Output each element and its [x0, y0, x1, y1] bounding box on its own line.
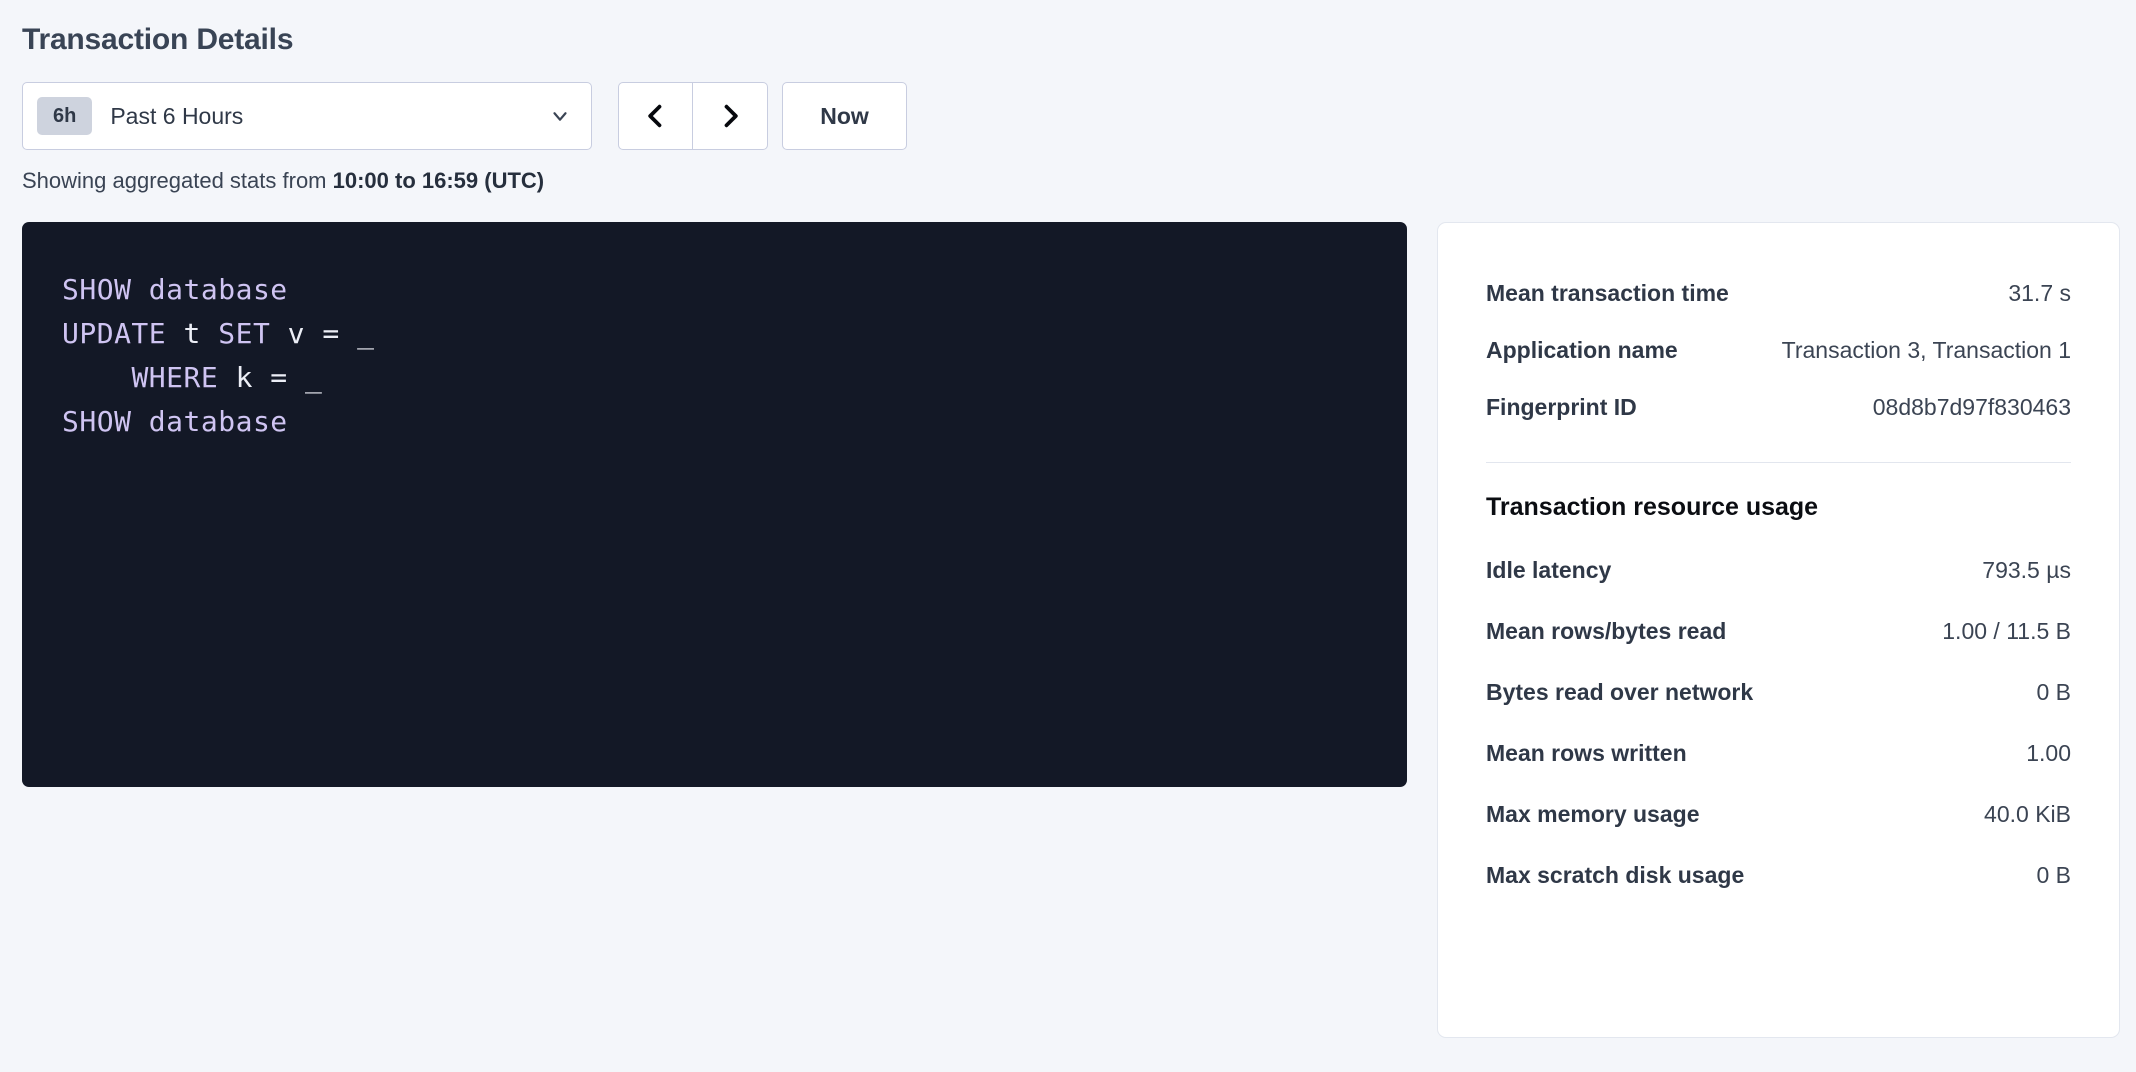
usage-row-label: Bytes read over network — [1486, 679, 1753, 706]
sql-identifier — [131, 273, 148, 306]
usage-row-value: 0 B — [2036, 679, 2071, 706]
usage-row: Mean rows written1.00 — [1486, 723, 2071, 784]
sql-code-line: SHOW database — [62, 400, 1407, 444]
page-title: Transaction Details — [22, 22, 2136, 58]
usage-row: Max scratch disk usage0 B — [1486, 845, 2071, 906]
sql-keyword: database — [149, 405, 288, 438]
chevron-right-icon — [716, 102, 744, 130]
showing-range-text: Showing aggregated stats from 10:00 to 1… — [22, 168, 2136, 194]
now-button[interactable]: Now — [782, 82, 907, 150]
sql-code-line: SHOW database — [62, 268, 1407, 312]
usage-row: Bytes read over network0 B — [1486, 662, 2071, 723]
sql-keyword: UPDATE — [62, 317, 166, 350]
resource-usage-rows: Idle latency793.5 µsMean rows/bytes read… — [1486, 540, 2071, 906]
showing-prefix: Showing aggregated stats from — [22, 168, 333, 193]
chevron-left-icon — [642, 102, 670, 130]
sql-code-lines: SHOW databaseUPDATE t SET v = _ WHERE k … — [62, 268, 1407, 444]
content-split: SHOW databaseUPDATE t SET v = _ WHERE k … — [22, 222, 2136, 1038]
sql-keyword: database — [149, 273, 288, 306]
resource-usage-title: Transaction resource usage — [1486, 493, 2071, 522]
detail-row: Mean transaction time31.7 s — [1486, 265, 2071, 322]
usage-row: Mean rows/bytes read1.00 / 11.5 B — [1486, 601, 2071, 662]
previous-period-button[interactable] — [618, 82, 693, 150]
usage-row-label: Max memory usage — [1486, 801, 1699, 828]
usage-row: Max memory usage40.0 KiB — [1486, 784, 2071, 845]
usage-row-label: Max scratch disk usage — [1486, 862, 1744, 889]
sql-keyword: SET — [218, 317, 270, 350]
detail-row-label: Application name — [1486, 337, 1678, 364]
detail-row-label: Mean transaction time — [1486, 280, 1729, 307]
chevron-down-icon — [549, 105, 571, 127]
next-period-button[interactable] — [693, 82, 768, 150]
section-divider — [1486, 462, 2071, 463]
detail-row-value: Transaction 3, Transaction 1 — [1782, 337, 2071, 364]
time-range-select[interactable]: 6h Past 6 Hours — [22, 82, 592, 150]
sql-identifier: k = _ — [218, 361, 322, 394]
usage-row-label: Mean rows written — [1486, 740, 1687, 767]
sql-identifier — [131, 405, 148, 438]
time-range-toolbar: 6h Past 6 Hours Now — [22, 82, 2136, 150]
usage-row: Idle latency793.5 µs — [1486, 540, 2071, 601]
detail-row: Fingerprint ID08d8b7d97f830463 — [1486, 379, 2071, 436]
sql-identifier: t — [166, 317, 218, 350]
sql-keyword: SHOW — [62, 405, 131, 438]
detail-row-value: 31.7 s — [2008, 280, 2071, 307]
sql-keyword: SHOW — [62, 273, 131, 306]
range-label: Past 6 Hours — [110, 105, 549, 128]
transaction-detail-card: Mean transaction time31.7 sApplication n… — [1437, 222, 2120, 1038]
detail-row: Application nameTransaction 3, Transacti… — [1486, 322, 2071, 379]
range-badge: 6h — [37, 97, 92, 135]
sql-code-block[interactable]: SHOW databaseUPDATE t SET v = _ WHERE k … — [22, 222, 1407, 787]
usage-row-label: Idle latency — [1486, 557, 1611, 584]
showing-range: 10:00 to 16:59 (UTC) — [333, 168, 545, 193]
usage-row-label: Mean rows/bytes read — [1486, 618, 1726, 645]
usage-row-value: 1.00 / 11.5 B — [1942, 618, 2071, 645]
transaction-detail-rows: Mean transaction time31.7 sApplication n… — [1486, 265, 2071, 436]
usage-row-value: 40.0 KiB — [1984, 801, 2071, 828]
transaction-details-page: Transaction Details 6h Past 6 Hours Now … — [0, 0, 2136, 1072]
usage-row-value: 793.5 µs — [1982, 557, 2071, 584]
sql-keyword: WHERE — [131, 361, 218, 394]
usage-row-value: 1.00 — [2026, 740, 2071, 767]
sql-code-line: WHERE k = _ — [62, 356, 1407, 400]
detail-row-value: 08d8b7d97f830463 — [1873, 394, 2071, 421]
detail-row-label: Fingerprint ID — [1486, 394, 1637, 421]
sql-identifier: v = _ — [270, 317, 374, 350]
sql-code-line: UPDATE t SET v = _ — [62, 312, 1407, 356]
usage-row-value: 0 B — [2036, 862, 2071, 889]
time-nav-group: Now — [618, 82, 907, 150]
